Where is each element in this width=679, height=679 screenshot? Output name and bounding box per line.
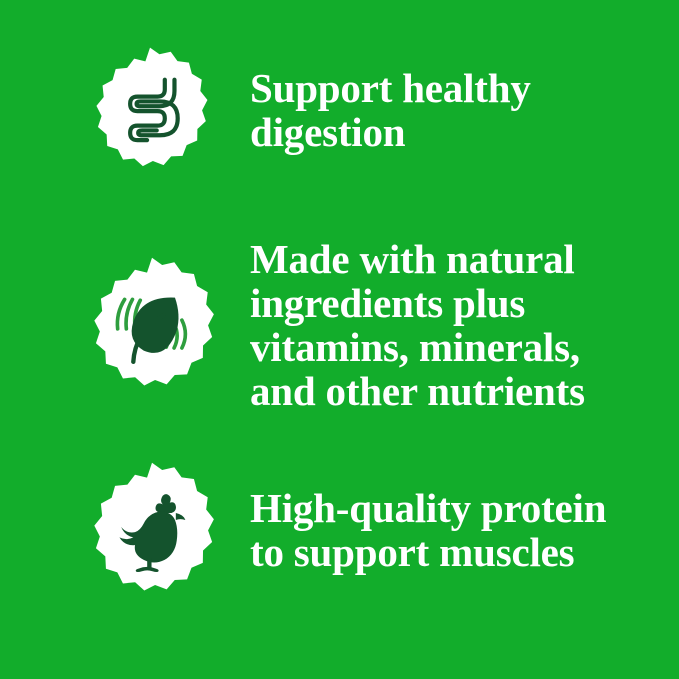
benefit-row: Support healthy digestion: [0, 45, 679, 175]
benefit-row: Made with natural ingredients plus vitam…: [0, 255, 679, 395]
benefit-text: Support healthy digestion: [250, 66, 679, 154]
intestine-icon: [110, 70, 191, 151]
benefit-text: Made with natural ingredients plus vitam…: [250, 237, 679, 413]
benefit-text: High-quality protein to support muscles: [250, 486, 679, 574]
chicken-icon: [109, 487, 196, 574]
leaf-icon: [109, 282, 196, 369]
benefit-row: High-quality protein to support muscles: [0, 460, 679, 600]
badge-chicken: [82, 460, 222, 600]
badge-leaf: [82, 255, 222, 395]
benefits-panel: Support healthy digestion: [0, 0, 679, 679]
badge-intestine: [85, 45, 215, 175]
